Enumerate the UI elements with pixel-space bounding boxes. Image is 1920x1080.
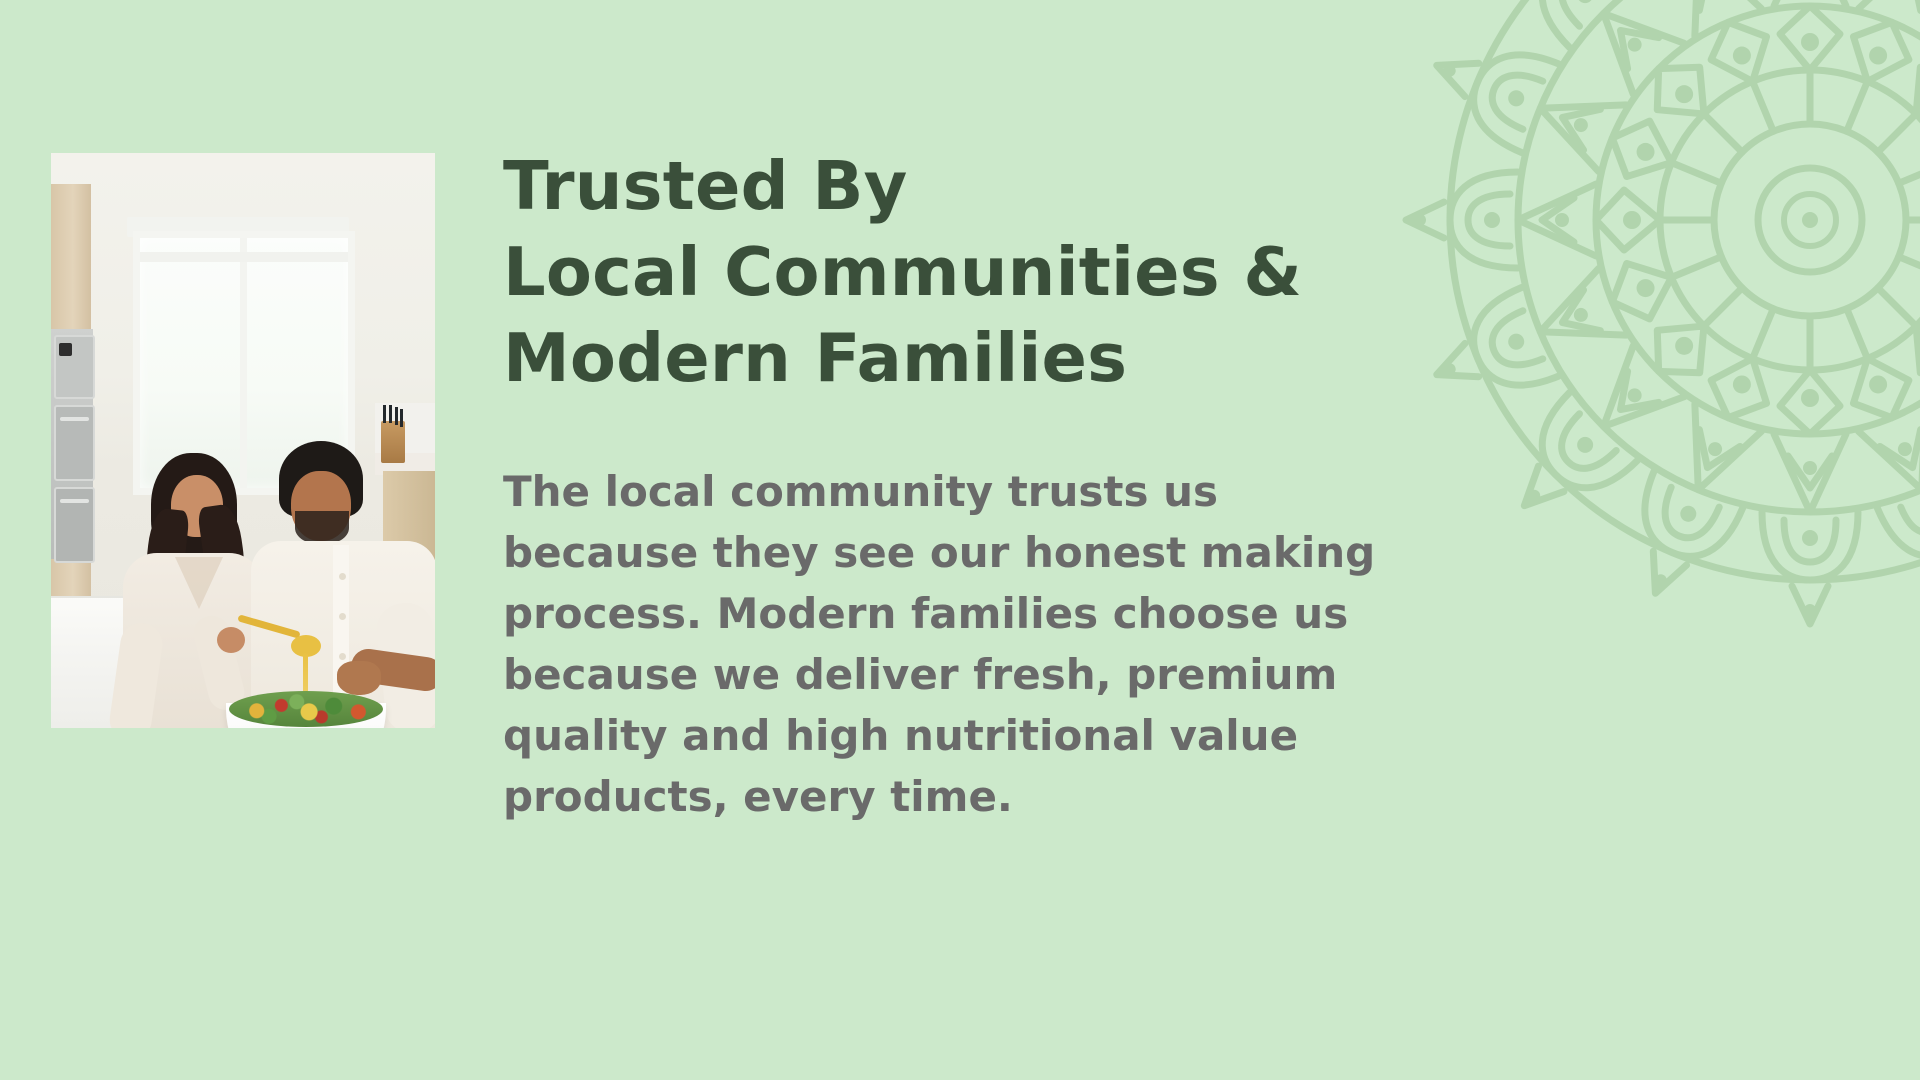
text-column: Trusted By Local Communities & Modern Fa…: [503, 143, 1463, 827]
oven-upper: [54, 405, 95, 481]
shirt-button: [339, 653, 346, 660]
woman-hand: [217, 627, 245, 653]
knife-block-icon: [381, 421, 405, 463]
man-hand: [337, 661, 381, 695]
shirt-button: [339, 573, 346, 580]
shirt-button: [339, 613, 346, 620]
lifestyle-photo: [51, 153, 435, 728]
microwave-icon: [54, 335, 95, 399]
man-beard: [295, 511, 349, 545]
woman-neckline: [175, 557, 223, 609]
body-paragraph: The local community trusts us because th…: [503, 461, 1418, 827]
promo-banner: Trusted By Local Communities & Modern Fa…: [0, 0, 1920, 1080]
oven-lower: [54, 487, 95, 563]
page-title: Trusted By Local Communities & Modern Fa…: [503, 143, 1463, 401]
kitchen-scene: [51, 153, 435, 728]
salad-contents: [229, 691, 383, 727]
